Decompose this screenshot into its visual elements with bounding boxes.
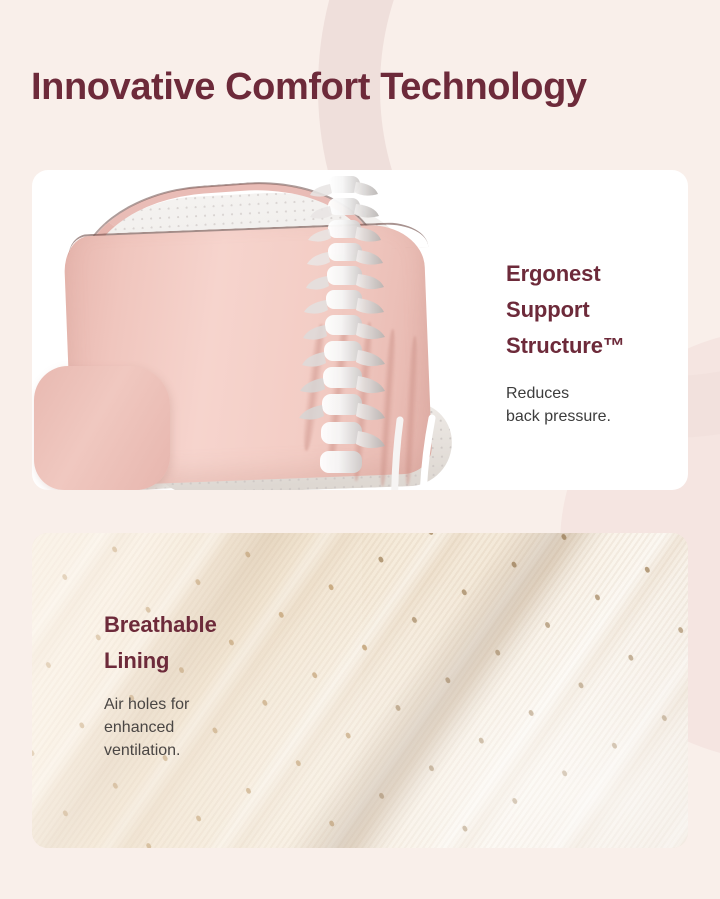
feature-card-ergonest-support: Ergonest Support Structure™ Reduces back…	[32, 170, 688, 490]
feature-subtitle-line: Reduces	[506, 382, 686, 405]
feature-title: Ergonest Support Structure™	[506, 256, 686, 364]
page-title: Innovative Comfort Technology	[31, 62, 587, 112]
feature-title: Breathable Lining	[104, 607, 314, 679]
feature-subtitle-line: enhanced	[104, 716, 314, 739]
feature-subtitle-line: ventilation.	[104, 739, 314, 762]
feature-subtitle: Reduces back pressure.	[506, 382, 686, 428]
feature-subtitle: Air holes for enhanced ventilation.	[104, 693, 314, 762]
feature-title-line: Lining	[104, 643, 314, 679]
feature-title-line: Ergonest	[506, 256, 686, 292]
product-feature-poster: Innovative Comfort Technology	[0, 0, 720, 899]
feature-title-line: Structure™	[506, 328, 686, 364]
feature-subtitle-line: Air holes for	[104, 693, 314, 716]
feature-title-line: Breathable	[104, 607, 314, 643]
belt-velcro-flap	[34, 366, 170, 490]
feature-text-block: Breathable Lining Air holes for enhanced…	[104, 607, 314, 762]
support-stays	[384, 410, 502, 490]
feature-card-breathable-lining: Breathable Lining Air holes for enhanced…	[32, 533, 688, 848]
product-image	[32, 170, 502, 490]
feature-text-block: Ergonest Support Structure™ Reduces back…	[506, 256, 686, 428]
feature-subtitle-line: back pressure.	[506, 405, 686, 428]
feature-title-line: Support	[506, 292, 686, 328]
